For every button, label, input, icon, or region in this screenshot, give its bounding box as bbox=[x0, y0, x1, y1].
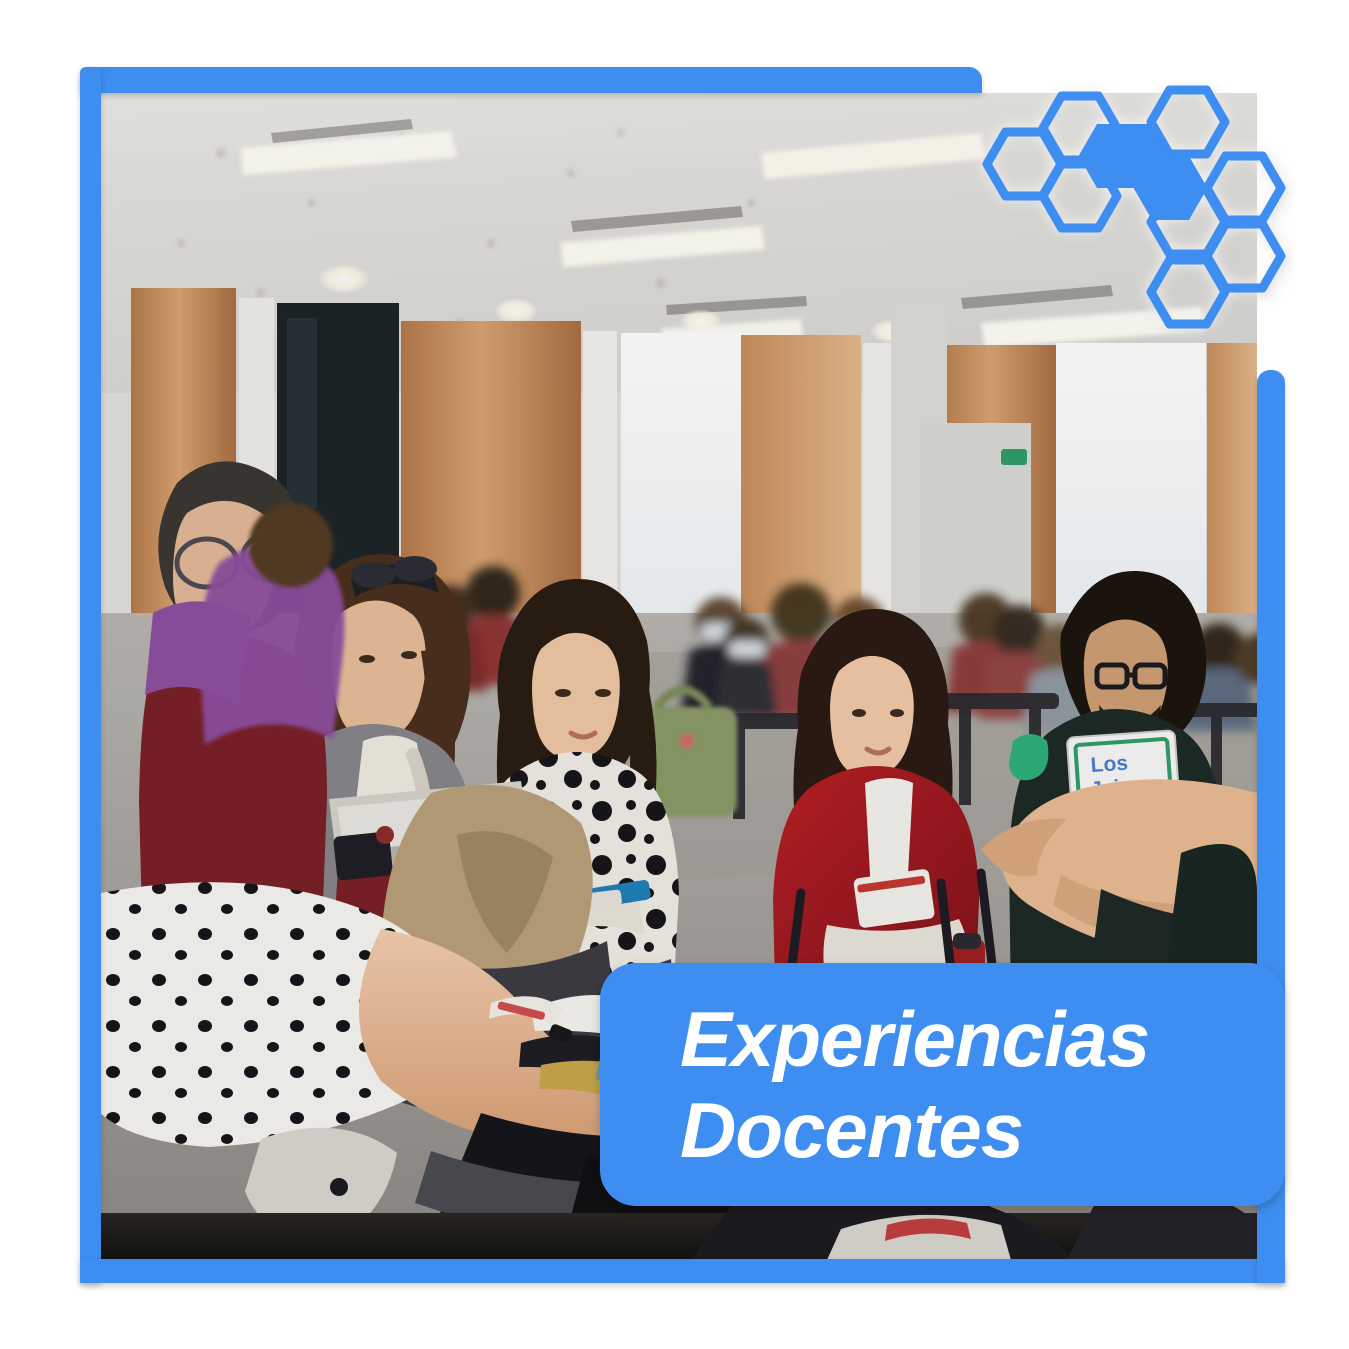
title-line-1: Experiencias bbox=[680, 994, 1285, 1084]
title-line-2: Docentes bbox=[680, 1085, 1285, 1175]
title-panel: Experiencias Docentes bbox=[600, 963, 1285, 1206]
poster-root: Los Jaivas bbox=[0, 0, 1349, 1349]
frame-bar-bottom bbox=[80, 1259, 1285, 1283]
frame-bar-top bbox=[80, 67, 982, 93]
frame-bar-left bbox=[80, 67, 101, 1283]
